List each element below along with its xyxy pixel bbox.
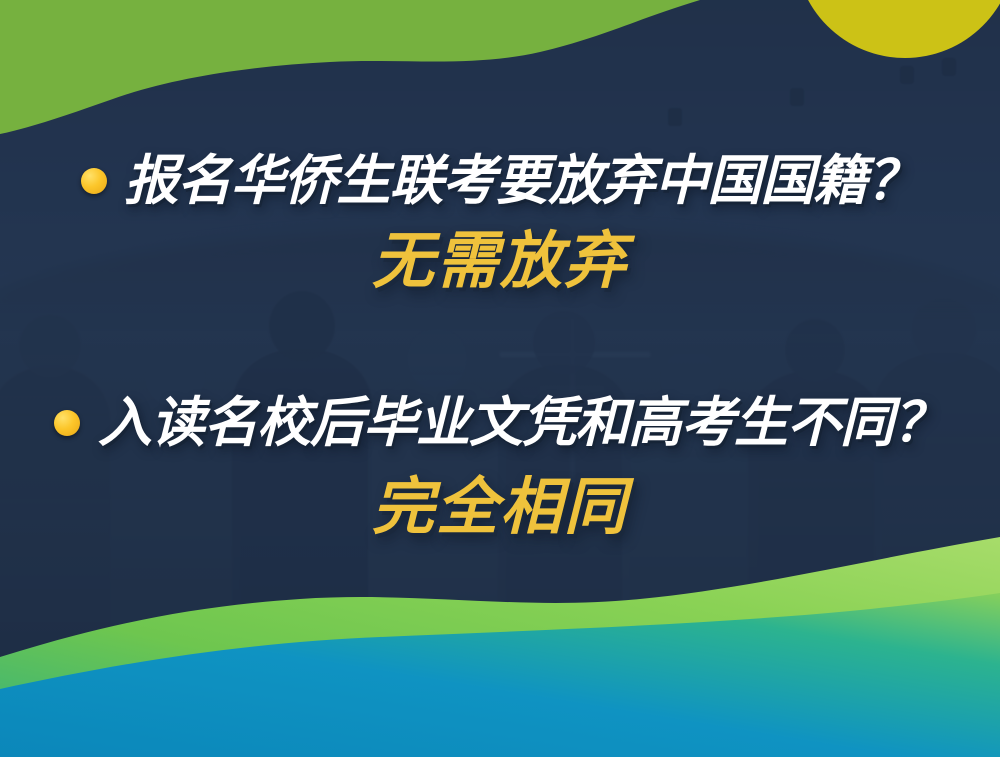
- question-text-1: 报名华侨生联考要放弃中国国籍？: [125, 150, 920, 212]
- answer-text-2: 完全相同: [372, 472, 628, 541]
- qa-block-2: 入读名校后毕业文凭和高考生不同？ 完全相同: [0, 392, 1000, 541]
- question-row-2: 入读名校后毕业文凭和高考生不同？: [0, 392, 1000, 454]
- bullet-dot-icon: [54, 410, 80, 436]
- question-text-2: 入读名校后毕业文凭和高考生不同？: [98, 392, 946, 454]
- answer-text-1: 无需放弃: [372, 226, 628, 295]
- bullet-dot-icon: [81, 168, 107, 194]
- answer-row-1: 无需放弃: [0, 226, 1000, 295]
- content-area: 报名华侨生联考要放弃中国国籍？ 无需放弃 入读名校后毕业文凭和高考生不同？ 完全…: [0, 0, 1000, 757]
- answer-row-2: 完全相同: [0, 472, 1000, 541]
- qa-block-1: 报名华侨生联考要放弃中国国籍？ 无需放弃: [0, 150, 1000, 295]
- question-row-1: 报名华侨生联考要放弃中国国籍？: [0, 150, 1000, 212]
- poster-canvas: 报名华侨生联考要放弃中国国籍？ 无需放弃 入读名校后毕业文凭和高考生不同？ 完全…: [0, 0, 1000, 757]
